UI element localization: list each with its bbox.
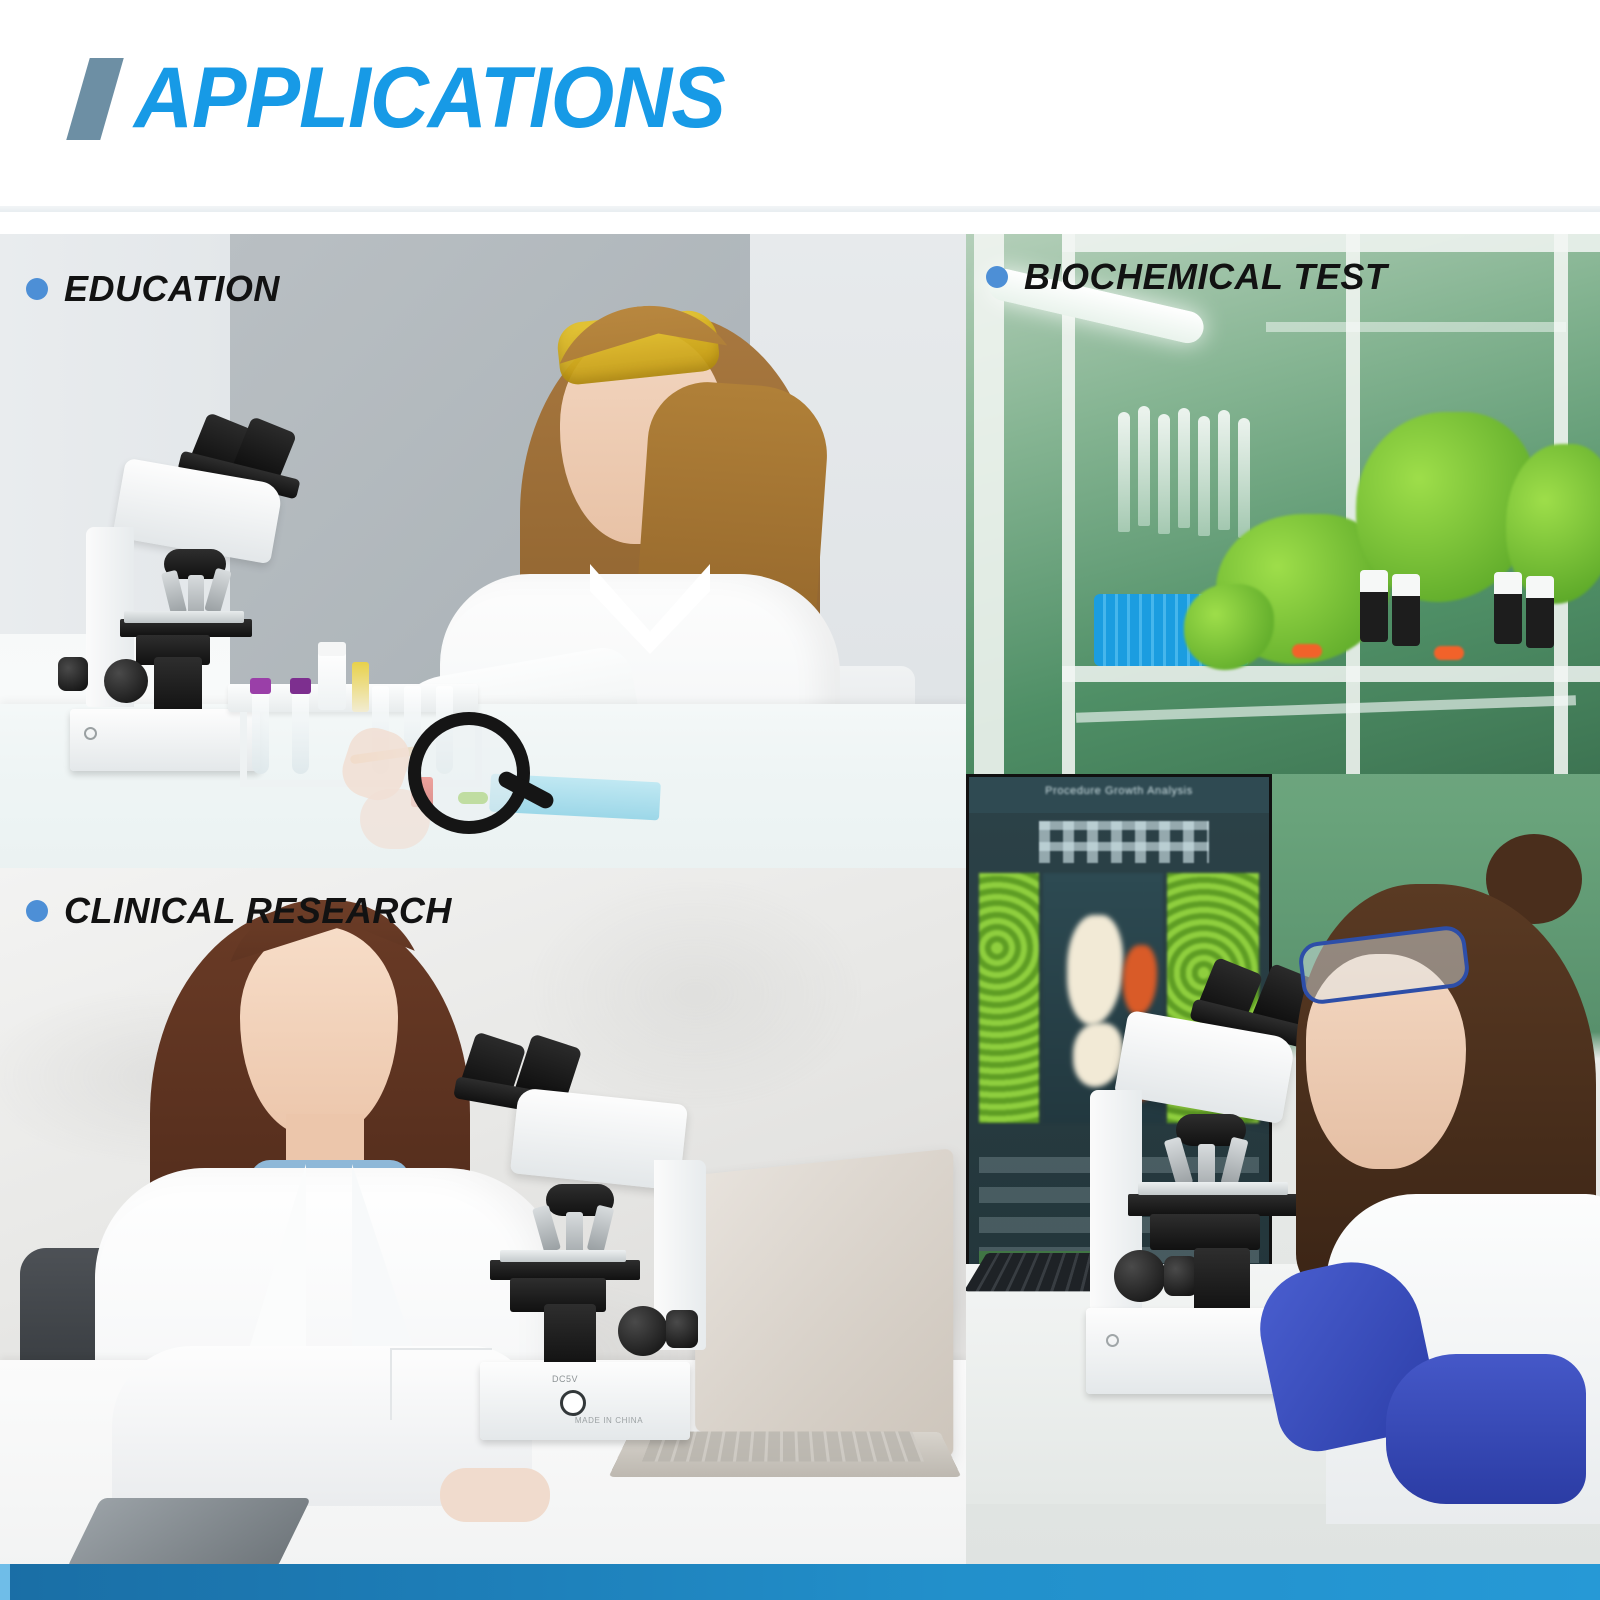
panel-biochemical-test[interactable]: Procedure Growth Analysis [966, 234, 1600, 1564]
reagent-vial [318, 650, 346, 710]
stage [1128, 1194, 1308, 1216]
sample-image-left [979, 873, 1039, 1123]
fine-focus-knob [1164, 1256, 1198, 1296]
condenser-illuminator [544, 1304, 596, 1368]
monitor-window-title: Procedure Growth Analysis [969, 785, 1269, 797]
chamber-shelf-mid [1062, 666, 1600, 682]
biochemical-photo: Procedure Growth Analysis [966, 234, 1600, 1564]
glass-tube [1238, 418, 1250, 538]
test-tube [252, 686, 269, 774]
glass-tube [1198, 416, 1210, 536]
reagent-vial-cap [318, 642, 346, 656]
glass-tube [1118, 412, 1130, 532]
glass-tube [1178, 408, 1190, 528]
fine-focus-knob [666, 1310, 698, 1348]
page-title: APPLICATIONS [134, 58, 725, 140]
power-port-icon [1106, 1334, 1119, 1347]
panel-education[interactable]: EDUCATION [0, 234, 966, 868]
glass-tube [1158, 414, 1170, 534]
glass-tube [1218, 410, 1230, 530]
stage-bracket [1150, 1214, 1260, 1250]
power-port-icon [560, 1390, 586, 1416]
page-header: APPLICATIONS [0, 0, 1600, 212]
reagent-bottle [1392, 574, 1420, 646]
reagent-bottle [1526, 576, 1554, 648]
slide-holder [500, 1250, 626, 1262]
origin-label: MADE IN CHINA [534, 1416, 684, 1425]
monitor-toolbar-icons[interactable] [1039, 821, 1209, 863]
slide-holder [124, 611, 244, 623]
chamber-frame-top [1062, 234, 1600, 252]
reagent-bottle [1360, 570, 1388, 642]
stage [490, 1260, 640, 1280]
microscope-clinical: DC5V MADE IN CHINA [440, 1038, 770, 1478]
researcher-face [240, 926, 398, 1136]
power-port-icon [84, 727, 97, 740]
clinical-photo: DC5V MADE IN CHINA [0, 868, 966, 1564]
microscope-base [70, 709, 260, 771]
title-block: APPLICATIONS [78, 58, 756, 140]
chamber-frame-left [974, 234, 1004, 774]
test-tube-cap [290, 678, 311, 694]
glass-tube [1138, 406, 1150, 526]
chamber-shelf-upper [1266, 322, 1566, 332]
coarse-focus-knob [1114, 1250, 1166, 1302]
tablet-device [67, 1498, 311, 1564]
slash-accent-icon [66, 58, 124, 140]
reagent-bottle [1494, 572, 1522, 644]
voltage-label: DC5V [552, 1374, 882, 1384]
fine-focus-knob [58, 657, 88, 691]
condenser-illuminator [154, 657, 202, 715]
footer-accent-edge [0, 1564, 10, 1600]
test-tube-cluster [1118, 406, 1258, 536]
coarse-focus-knob [104, 659, 148, 703]
coarse-focus-knob [618, 1306, 668, 1356]
footer-accent-bar [0, 1564, 1600, 1600]
education-photo [0, 234, 966, 868]
slide-holder [1138, 1182, 1288, 1195]
test-tube [292, 686, 309, 774]
orange-clip [1292, 644, 1322, 658]
yellow-sample-tube [352, 662, 369, 712]
panel-clinical-research[interactable]: DC5V MADE IN CHINA CLINICAL RESEARCH [0, 868, 966, 1564]
orange-clip [1434, 646, 1464, 660]
blue-nitrile-glove-forearm [1386, 1354, 1586, 1504]
condenser-illuminator [1194, 1248, 1250, 1314]
test-tube-cap [250, 678, 271, 694]
applications-grid: EDUCATION [0, 212, 1600, 1564]
